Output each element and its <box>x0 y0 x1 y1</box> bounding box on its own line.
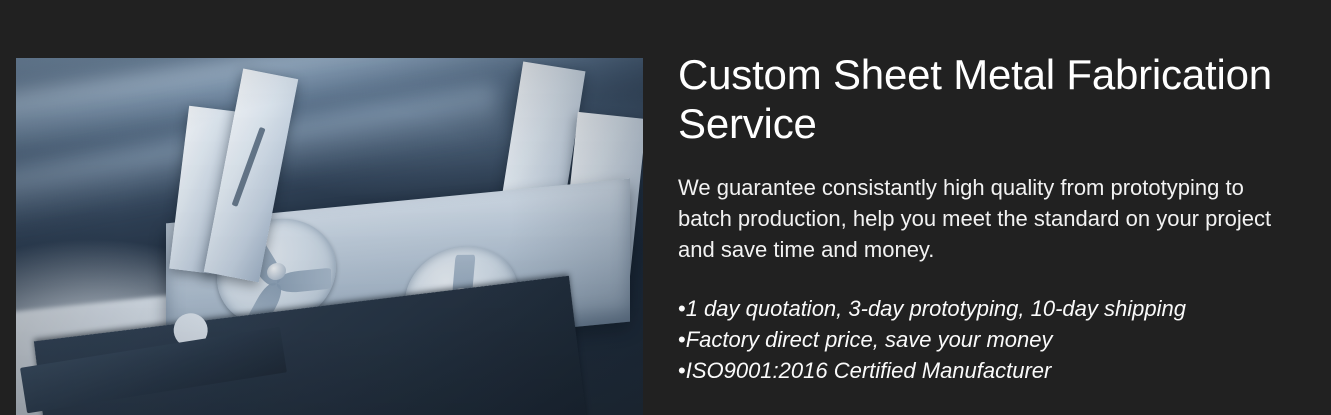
bullet-marker-icon: • <box>678 358 686 383</box>
product-photo <box>16 58 643 415</box>
bullet-marker-icon: • <box>678 327 686 352</box>
feature-list: •1 day quotation, 3-day prototyping, 10-… <box>678 293 1303 386</box>
promo-banner: Custom Sheet Metal Fabrication Service W… <box>0 0 1331 415</box>
banner-description: We guarantee consistantly high quality f… <box>678 172 1292 265</box>
list-item-label: 1 day quotation, 3-day prototyping, 10-d… <box>686 296 1186 321</box>
list-item: •ISO9001:2016 Certified Manufacturer <box>678 355 1303 386</box>
list-item: •Factory direct price, save your money <box>678 324 1303 355</box>
photo-backdrop <box>16 58 643 415</box>
list-item-label: Factory direct price, save your money <box>686 327 1053 352</box>
banner-copy: Custom Sheet Metal Fabrication Service W… <box>678 50 1303 386</box>
photo-vignette <box>16 58 643 415</box>
page-title: Custom Sheet Metal Fabrication Service <box>678 50 1303 148</box>
bullet-marker-icon: • <box>678 296 686 321</box>
list-item: •1 day quotation, 3-day prototyping, 10-… <box>678 293 1303 324</box>
list-item-label: ISO9001:2016 Certified Manufacturer <box>686 358 1052 383</box>
